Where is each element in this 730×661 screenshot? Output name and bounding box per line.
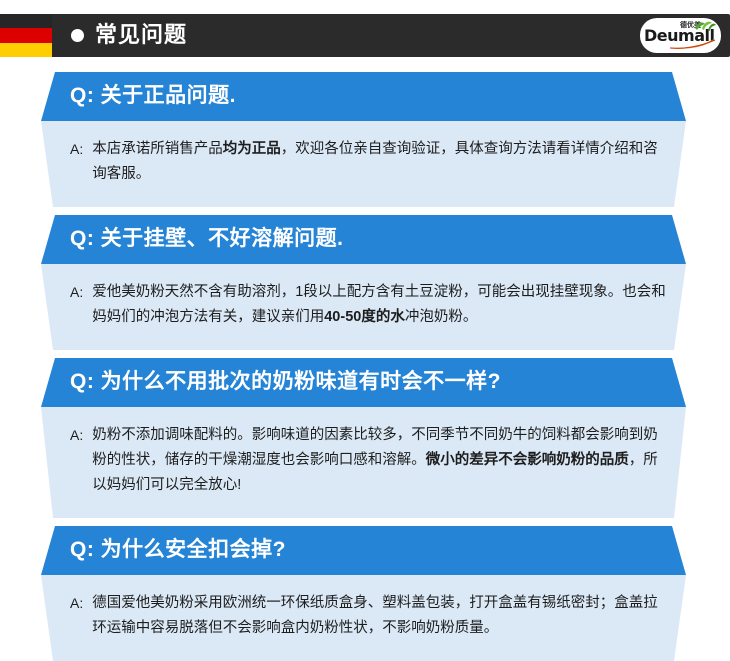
faq-item: Q: 为什么不用批次的奶粉味道有时会不一样? A: 奶粉不添加调味配料的。影响味… bbox=[0, 358, 730, 518]
faq-answer-text: 爱他美奶粉天然不含有助溶剂，1段以上配方含有土豆淀粉，可能会出现挂壁现象。也会和… bbox=[92, 280, 670, 330]
faq-answer-text: 德国爱他美奶粉采用欧洲统一环保纸质盒身、塑料盖包装，打开盒盖有锡纸密封；盒盖拉环… bbox=[92, 591, 670, 641]
faq-question-banner[interactable]: Q: 关于挂壁、不好溶解问题. bbox=[0, 215, 730, 264]
green-leaves-icon bbox=[694, 20, 716, 31]
brand-logo[interactable]: Deumall 德优美 bbox=[640, 18, 721, 53]
faq-answer-text: 本店承诺所销售产品均为正品，欢迎各位亲自查询验证，具体查询方法请看详情介绍和咨询… bbox=[92, 137, 670, 187]
faq-gap bbox=[0, 518, 730, 526]
faq-answer-panel: A: 奶粉不添加调味配料的。影响味道的因素比较多，不同季节不同奶牛的饲料都会影响… bbox=[0, 407, 730, 518]
faq-item: Q: 关于正品问题. A: 本店承诺所销售产品均为正品，欢迎各位亲自查询验证，具… bbox=[0, 72, 730, 207]
flag-stripe-black bbox=[0, 14, 52, 28]
faq-answer-panel: A: 德国爱他美奶粉采用欧洲统一环保纸质盒身、塑料盖包装，打开盒盖有锡纸密封；盒… bbox=[0, 575, 730, 661]
faq-item: Q: 关于挂壁、不好溶解问题. A: 爱他美奶粉天然不含有助溶剂，1段以上配方含… bbox=[0, 215, 730, 350]
faq-question-banner[interactable]: Q: 关于正品问题. bbox=[0, 72, 730, 121]
faq-question-text: Q: 为什么安全扣会掉? bbox=[0, 526, 730, 575]
page-header: 常见问题 Deumall 德优美 bbox=[0, 0, 730, 72]
faq-list: Q: 关于正品问题. A: 本店承诺所销售产品均为正品，欢迎各位亲自查询验证，具… bbox=[0, 72, 730, 661]
faq-answer-text: 奶粉不添加调味配料的。影响味道的因素比较多，不同季节不同奶牛的饲料都会影响到奶粉… bbox=[92, 423, 670, 498]
faq-question-text: Q: 关于挂壁、不好溶解问题. bbox=[0, 215, 730, 264]
faq-question-banner[interactable]: Q: 为什么安全扣会掉? bbox=[0, 526, 730, 575]
orange-swoosh-icon bbox=[670, 38, 716, 49]
bullet-dot-icon bbox=[71, 29, 84, 42]
faq-answer-panel: A: 爱他美奶粉天然不含有助溶剂，1段以上配方含有土豆淀粉，可能会出现挂壁现象。… bbox=[0, 264, 730, 350]
faq-item: Q: 为什么安全扣会掉? A: 德国爱他美奶粉采用欧洲统一环保纸质盒身、塑料盖包… bbox=[0, 526, 730, 661]
faq-answer-label: A: bbox=[70, 137, 92, 187]
page-title: 常见问题 bbox=[95, 21, 187, 49]
flag-stripe-red bbox=[0, 28, 52, 42]
faq-gap bbox=[0, 350, 730, 358]
german-flag-icon bbox=[0, 14, 52, 57]
flag-stripe-yellow bbox=[0, 43, 52, 57]
faq-question-text: Q: 关于正品问题. bbox=[0, 72, 730, 121]
faq-gap bbox=[0, 207, 730, 215]
faq-answer-panel: A: 本店承诺所销售产品均为正品，欢迎各位亲自查询验证，具体查询方法请看详情介绍… bbox=[0, 121, 730, 207]
faq-answer-label: A: bbox=[70, 591, 92, 641]
faq-question-text: Q: 为什么不用批次的奶粉味道有时会不一样? bbox=[0, 358, 730, 407]
faq-answer-label: A: bbox=[70, 280, 92, 330]
faq-question-banner[interactable]: Q: 为什么不用批次的奶粉味道有时会不一样? bbox=[0, 358, 730, 407]
faq-answer-label: A: bbox=[70, 423, 92, 498]
